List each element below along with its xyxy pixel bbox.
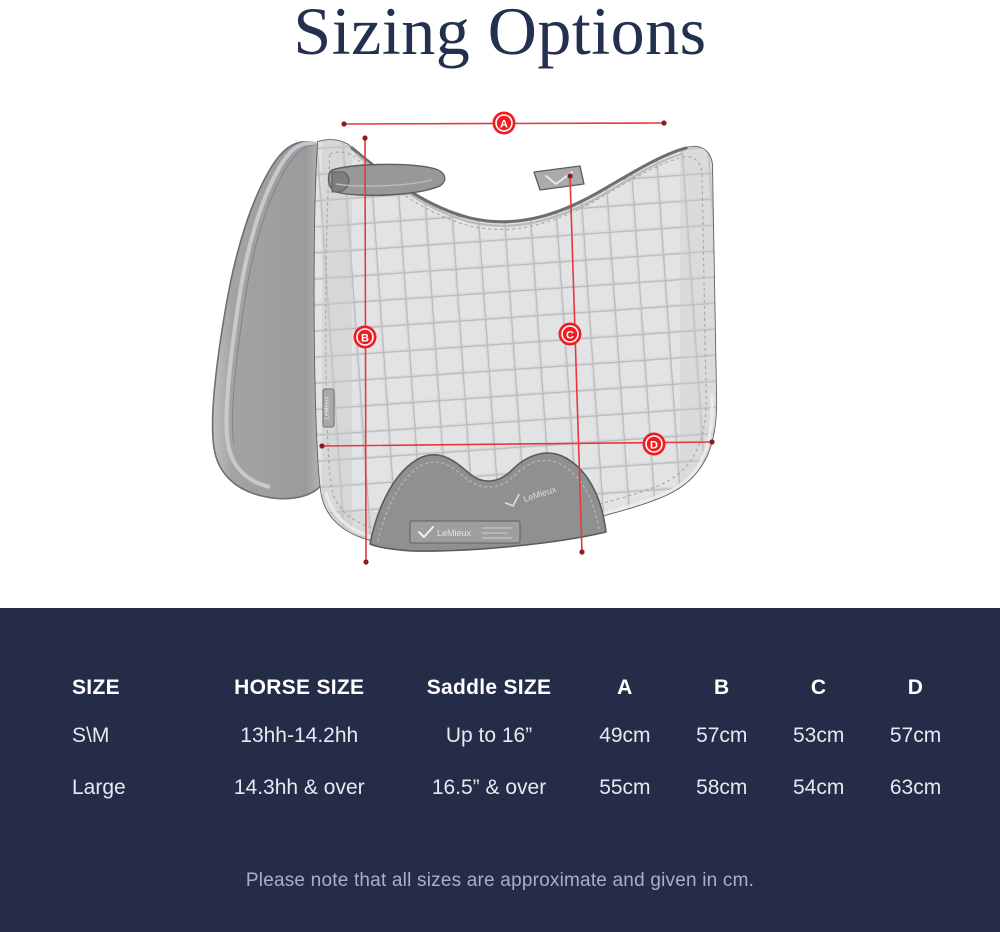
cell-saddle-size: Up to 16” — [402, 724, 577, 748]
cell-c: 54cm — [770, 776, 867, 800]
svg-text:D: D — [650, 440, 658, 452]
marker-badge-d: D — [643, 433, 666, 456]
column-header-b: B — [673, 676, 770, 700]
sizing-table: SIZE HORSE SIZE Saddle SIZE A B C D S\M … — [0, 666, 1000, 814]
pad-front-flap — [213, 142, 323, 499]
table-header-row: SIZE HORSE SIZE Saddle SIZE A B C D — [0, 666, 1000, 710]
cell-d: 57cm — [867, 724, 964, 748]
cell-horse-size: 14.3hh & over — [197, 776, 402, 800]
svg-text:LeMieux: LeMieux — [325, 397, 331, 420]
cell-d: 63cm — [867, 776, 964, 800]
column-header-d: D — [867, 676, 964, 700]
hero-section: Sizing Options — [0, 0, 1000, 608]
column-header-size: SIZE — [72, 676, 197, 700]
sizing-disclaimer-note: Please note that all sizes are approxima… — [0, 870, 1000, 892]
marker-badge-c: C — [559, 323, 582, 346]
cell-size: S\M — [72, 724, 197, 748]
cell-a: 55cm — [576, 776, 673, 800]
column-header-horse-size: HORSE SIZE — [197, 676, 402, 700]
svg-text:B: B — [361, 333, 369, 345]
side-label-tag: LeMieux — [323, 389, 334, 427]
marker-badge-a: A — [493, 112, 516, 135]
specs-section: SIZE HORSE SIZE Saddle SIZE A B C D S\M … — [0, 608, 1000, 932]
cell-c: 53cm — [770, 724, 867, 748]
svg-text:A: A — [500, 119, 508, 131]
brand-emblem-icon — [534, 166, 584, 190]
saddle-pad-illustration: LeMieux LeMieux LeMie — [0, 92, 1000, 592]
column-header-c: C — [770, 676, 867, 700]
cell-b: 58cm — [673, 776, 770, 800]
billet-strap-loop — [329, 164, 445, 195]
marker-badge-b: B — [354, 326, 377, 349]
svg-text:LeMieux: LeMieux — [437, 528, 472, 538]
table-row: Large 14.3hh & over 16.5” & over 55cm 58… — [0, 762, 1000, 814]
svg-text:C: C — [566, 330, 574, 342]
page-title: Sizing Options — [0, 0, 1000, 67]
table-row: S\M 13hh-14.2hh Up to 16” 49cm 57cm 53cm… — [0, 710, 1000, 762]
cell-size: Large — [72, 776, 197, 800]
cell-a: 49cm — [576, 724, 673, 748]
cell-horse-size: 13hh-14.2hh — [197, 724, 402, 748]
column-header-saddle-size: Saddle SIZE — [402, 676, 577, 700]
column-header-a: A — [576, 676, 673, 700]
saddle-pad-diagram: LeMieux LeMieux LeMie — [0, 92, 1000, 592]
cell-saddle-size: 16.5” & over — [402, 776, 577, 800]
cell-b: 57cm — [673, 724, 770, 748]
sizing-options-page: Sizing Options — [0, 0, 1000, 932]
